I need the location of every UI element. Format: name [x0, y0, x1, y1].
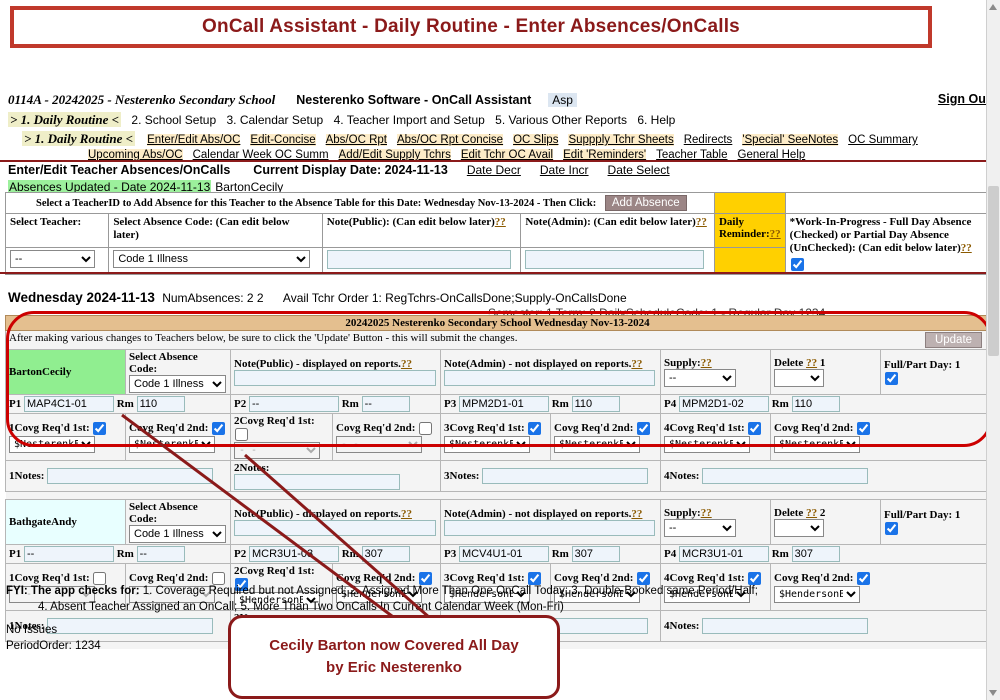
room-label-p4: Rm	[772, 548, 789, 560]
asp-badge: Asp	[548, 93, 577, 107]
coverage-2nd-dropdown-p3[interactable]: $NesterenkEr	[554, 436, 640, 453]
grid-band-header-row: 20242025 Nesterenko Secondary School Wed…	[6, 316, 990, 331]
coverage-1st-label-p3: 3Covg Req'd 1st:	[444, 421, 547, 436]
teacher-separator-row	[6, 492, 990, 500]
software-name-label: Nesterenko Software - OnCall Assistant	[296, 93, 531, 107]
wip-cell: *Work-In-Progress - Full Day Absence (Ch…	[785, 214, 994, 275]
teacher-supply-dropdown[interactable]: --	[664, 369, 736, 387]
coverage-1st-dropdown-p3[interactable]: $NesterenkEr	[444, 436, 530, 453]
period-label-p3: P3	[444, 398, 456, 410]
room-input-p1[interactable]	[137, 396, 185, 412]
period-course-row: P1 Rm P2 Rm P3 Rm P4	[6, 395, 990, 414]
app-page: OnCall Assistant - Daily Routine - Enter…	[0, 0, 1000, 700]
note-public-label: Note(Public) - displayed on reports.??	[234, 358, 437, 370]
course-input-p3[interactable]	[459, 546, 549, 562]
coverage-2nd-checkbox-p3[interactable]	[637, 422, 650, 435]
room-label-p2: Rm	[342, 548, 359, 560]
date-incr-link[interactable]: Date Incr	[540, 163, 589, 177]
teacher-supply-dropdown[interactable]: --	[664, 519, 736, 537]
grid-band-header: 20242025 Nesterenko Secondary School Wed…	[6, 316, 990, 331]
room-label-p1: Rm	[117, 398, 134, 410]
teacher-note-admin-input[interactable]	[444, 520, 655, 536]
notes-cell-p1: 1Notes:	[6, 461, 231, 492]
sign-out-link[interactable]: Sign Out	[938, 92, 990, 106]
coverage-cell-p2-1st: 2Covg Req'd 1st: - -	[231, 414, 333, 461]
note-admin-cell	[521, 248, 715, 275]
room-input-p3[interactable]	[572, 546, 620, 562]
coverage-2nd-dropdown-p1[interactable]: $NesterenkEr	[129, 436, 215, 453]
note-public-help-icon[interactable]: ??	[401, 358, 412, 370]
notes-input-p2[interactable]	[234, 474, 400, 490]
notes-input-p4[interactable]	[702, 618, 868, 634]
notes-input-p4[interactable]	[702, 468, 868, 484]
vertical-scrollbar[interactable]	[986, 0, 1000, 700]
course-input-p2[interactable]	[249, 546, 339, 562]
sub-menu-item-special-seenotes[interactable]: 'Special' SeeNotes	[742, 134, 838, 146]
notes-label-p4: 4Notes:	[664, 470, 699, 482]
note-public-help-icon[interactable]: ??	[401, 508, 412, 520]
note-admin-help-icon[interactable]: ??	[696, 216, 707, 228]
coverage-cell-p1-1st: 1Covg Req'd 1st: $NesterenkEr	[6, 414, 126, 461]
wip-help-icon[interactable]: ??	[961, 242, 972, 254]
period-label-p1: P1	[9, 548, 21, 560]
day-label: Wednesday 2024-11-13	[8, 290, 155, 305]
notes-label-p1: 1Notes:	[9, 470, 44, 482]
daily-reminder-value-cell	[714, 248, 785, 275]
wip-label: *Work-In-Progress - Full Day Absence (Ch…	[790, 216, 972, 254]
daily-reminder-help-icon[interactable]: ??	[770, 228, 781, 240]
period-label-p2: P2	[234, 398, 246, 410]
course-input-p2[interactable]	[249, 396, 339, 412]
grid-update-row: Update After making various changes to T…	[6, 331, 990, 350]
room-input-p2[interactable]	[362, 396, 410, 412]
course-input-p3[interactable]	[459, 396, 549, 412]
notes-label-p4: 4Notes:	[664, 620, 699, 632]
school-id-label: 0114A - 20242025 - Nesterenko Secondary …	[8, 92, 275, 107]
coverage-2nd-checkbox-p1[interactable]	[212, 422, 225, 435]
sub-menu-item-abs-oc-rpt[interactable]: Abs/OC Rpt	[326, 134, 387, 146]
delete-help-icon[interactable]: ??	[806, 357, 817, 369]
select-absence-label-cell: Select Absence Code: (Can edit below lat…	[109, 214, 322, 248]
select-teacher-cell: --	[6, 248, 109, 275]
room-input-p3[interactable]	[572, 396, 620, 412]
page-heading: Enter/Edit Teacher Absences/OnCalls	[8, 163, 230, 177]
divider-top	[0, 160, 1000, 162]
page-title: OnCall Assistant - Daily Routine - Enter…	[202, 16, 740, 38]
daily-reminder-header-cell	[714, 193, 785, 214]
main-menu-item-school-setup[interactable]: 2. School Setup	[131, 113, 216, 127]
delete-label: Delete ?? 2	[774, 507, 877, 519]
room-label-p4: Rm	[772, 398, 789, 410]
note-public-label-cell: Note(Public): (Can edit below later)??	[322, 214, 521, 248]
sub-menu-item-abs-oc-rpt-concise[interactable]: Abs/OC Rpt Concise	[397, 134, 503, 146]
period-cell-p2: P2 Rm	[231, 545, 441, 564]
avail-teacher-order-label: Avail Tchr Order 1: RegTchrs-OnCallsDone…	[283, 291, 627, 305]
teacher-fullpart-cell: Full/Part Day: 1	[881, 350, 990, 395]
main-menu-item-help[interactable]: 6. Help	[637, 113, 675, 127]
add-absence-instruction-row: Select a TeacherID to Add Absence for th…	[6, 193, 995, 214]
teacher-absence-code-cell: Select Absence Code: Code 1 Illness	[126, 500, 231, 545]
coverage-2nd-label-p1: Covg Req'd 2nd:	[129, 421, 227, 436]
sub-menu-item-edit-concise[interactable]: Edit-Concise	[250, 134, 315, 146]
period-label-p4: P4	[664, 398, 676, 410]
teacher-note-public-input[interactable]	[234, 520, 436, 536]
room-input-p4[interactable]	[792, 396, 840, 412]
supply-help-icon[interactable]: ??	[701, 507, 712, 519]
coverage-cell-p3-1st: 3Covg Req'd 1st: $NesterenkEr	[441, 414, 551, 461]
sub-menu-current-label: > 1. Daily Routine <	[22, 131, 135, 146]
teacher-row-number: 1	[820, 357, 826, 369]
teacher-fullpart-checkbox[interactable]	[885, 522, 898, 535]
notes-input-p3[interactable]	[482, 468, 648, 484]
coverage-2nd-label-p4: Covg Req'd 2nd:	[774, 421, 986, 436]
period-course-row: P1 Rm P2 Rm P3 Rm P4	[6, 545, 990, 564]
teacher-absence-code-dropdown[interactable]: Code 1 Illness	[129, 375, 226, 393]
teacher-delete-cell: Delete ?? 2	[771, 500, 881, 545]
scroll-up-arrow-icon[interactable]	[989, 4, 997, 10]
grid-update-cell: Update After making various changes to T…	[6, 331, 990, 350]
period-cell-p2: P2 Rm	[231, 395, 441, 414]
add-absence-labels-row: Select Teacher: Select Absence Code: (Ca…	[6, 214, 995, 248]
page-heading-row: Enter/Edit Teacher Absences/OnCalls Curr…	[8, 163, 670, 178]
note-admin-help-icon[interactable]: ??	[631, 358, 642, 370]
coverage-1st-label-p4: 4Covg Req'd 1st:	[664, 421, 767, 436]
delete-help-icon[interactable]: ??	[806, 507, 817, 519]
room-input-p1[interactable]	[137, 546, 185, 562]
main-menu-item-daily-routine[interactable]: > 1. Daily Routine <	[8, 112, 121, 127]
update-button[interactable]: Update	[925, 332, 982, 348]
course-input-p1[interactable]	[24, 546, 114, 562]
coverage-2nd-label-p3: Covg Req'd 2nd:	[554, 421, 657, 436]
supply-label: Supply:??	[664, 507, 767, 519]
note-public-label: Note(Public): (Can edit below later)	[327, 216, 495, 228]
notes-cell-p3: 3Notes:	[441, 461, 661, 492]
coverage-2nd-label-p2: Covg Req'd 2nd:	[336, 421, 437, 436]
num-absences-label: NumAbsences: 2 2	[162, 291, 263, 305]
select-teacher-label: Select Teacher:	[10, 216, 81, 228]
delete-label: Delete ?? 1	[774, 357, 877, 369]
divider-mid	[0, 272, 1000, 274]
wip-header-cell	[785, 193, 994, 214]
fyi-block: FYI: The app checks for: 1. Coverage Req…	[6, 583, 906, 615]
sub-menu-item-supply-tchr-sheets[interactable]: Suppply Tchr Sheets	[568, 134, 673, 146]
supply-label: Supply:??	[664, 357, 767, 369]
add-absence-instruction: Select a TeacherID to Add Absence for th…	[36, 198, 596, 209]
sub-menu-item-enter-edit-abs-oc[interactable]: Enter/Edit Abs/OC	[147, 134, 240, 146]
coverage-row: 1Covg Req'd 1st: $NesterenkEr Covg Req'd…	[6, 414, 990, 461]
teacher-fullpart-checkbox[interactable]	[885, 372, 898, 385]
page-title-banner: OnCall Assistant - Daily Routine - Enter…	[10, 6, 932, 48]
note-admin-label: Note(Admin) - not displayed on reports.?…	[444, 358, 657, 370]
add-absence-instruction-cell: Select a TeacherID to Add Absence for th…	[6, 193, 715, 214]
teacher-row-number: 2	[820, 507, 826, 519]
room-label-p1: Rm	[117, 548, 134, 560]
period-cell-p3: P3 Rm	[441, 545, 661, 564]
annotation-callout: Cecily Barton now Covered All Day by Eri…	[228, 615, 560, 699]
annotation-line-2: by Eric Nesterenko	[326, 657, 462, 679]
course-input-p4[interactable]	[679, 546, 769, 562]
issues-block: No Issues PeriodOrder: 1234	[6, 622, 101, 654]
teacher-header-row: BartonCecily Select Absence Code: Code 1…	[6, 350, 990, 395]
notes-cell-p4: 4Notes:	[661, 461, 990, 492]
period-cell-p3: P3 Rm	[441, 395, 661, 414]
course-input-p1[interactable]	[24, 396, 114, 412]
annotation-line-1: Cecily Barton now Covered All Day	[269, 635, 519, 657]
fullpart-label: Full/Part Day: 1	[884, 359, 986, 371]
period-cell-p1: P1 Rm	[6, 545, 231, 564]
period-label-p2: P2	[234, 548, 246, 560]
coverage-cell-p4-2nd: Covg Req'd 2nd: $NesterenkEr	[771, 414, 990, 461]
room-label-p3: Rm	[552, 398, 569, 410]
teacher-delete-dropdown[interactable]	[774, 369, 824, 387]
teacher-supply-cell: Supply:?? --	[661, 350, 771, 395]
coverage-cell-p1-2nd: Covg Req'd 2nd: $NesterenkEr	[126, 414, 231, 461]
coverage-2nd-dropdown-p4[interactable]: $NesterenkEr	[774, 436, 860, 453]
add-absence-panel: Select a TeacherID to Add Absence for th…	[5, 192, 995, 275]
notes-row: 1Notes: 2Notes: 3Notes: 4Notes:	[6, 461, 990, 492]
coverage-1st-dropdown-p1[interactable]: $NesterenkEr	[9, 436, 95, 453]
room-input-p2[interactable]	[362, 546, 410, 562]
period-label-p3: P3	[444, 548, 456, 560]
no-issues-label: No Issues	[6, 622, 101, 638]
sub-menu-row-1: > 1. Daily Routine < Enter/Edit Abs/OC E…	[22, 131, 1000, 146]
coverage-2nd-checkbox-p2[interactable]	[419, 422, 432, 435]
scroll-down-arrow-icon[interactable]	[989, 690, 997, 696]
select-absence-cell: Code 1 Illness	[109, 248, 322, 275]
coverage-2nd-checkbox-p4[interactable]	[857, 422, 870, 435]
supply-help-icon[interactable]: ??	[701, 357, 712, 369]
coverage-1st-checkbox-p3[interactable]	[528, 422, 541, 435]
teacher-absence-code-cell: Select Absence Code: Code 1 Illness	[126, 350, 231, 395]
coverage-1st-label-p2: 2Covg Req'd 1st:	[234, 415, 329, 442]
period-cell-p4: P4 Rm	[661, 395, 990, 414]
period-cell-p4: P4 Rm	[661, 545, 990, 564]
teacher-note-public-cell: Note(Public) - displayed on reports.??	[231, 500, 441, 545]
teacher-note-admin-cell: Note(Admin) - not displayed on reports.?…	[441, 350, 661, 395]
period-label-p4: P4	[664, 548, 676, 560]
coverage-2nd-dropdown-p2[interactable]: - -	[336, 436, 422, 453]
sub-menu-item-oc-summary[interactable]: OC Summary	[848, 134, 918, 146]
note-admin-input[interactable]	[525, 250, 704, 269]
coverage-1st-dropdown-p4[interactable]: $NesterenkEr	[664, 436, 750, 453]
teacher-separator	[6, 492, 990, 500]
coverage-1st-checkbox-p2[interactable]	[235, 428, 248, 441]
note-admin-help-icon[interactable]: ??	[631, 508, 642, 520]
fyi-line-1-text: 1. Coverage Required but not Assigned; 2…	[140, 585, 758, 597]
notes-label-p2: 2Notes:	[234, 462, 269, 474]
coverage-1st-dropdown-p2[interactable]: - -	[234, 442, 320, 459]
fyi-line-1: FYI: The app checks for: 1. Coverage Req…	[6, 583, 906, 599]
coverage-1st-label-p1: 1Covg Req'd 1st:	[9, 421, 122, 436]
date-decr-link[interactable]: Date Decr	[467, 163, 521, 177]
wip-fullday-checkbox[interactable]	[791, 258, 804, 271]
select-absence-code-dropdown[interactable]: Code 1 Illness	[113, 250, 310, 268]
period-order-label: PeriodOrder: 1234	[6, 638, 101, 654]
daily-reminder-label: Daily Reminder:	[719, 216, 770, 240]
note-public-label: Note(Public) - displayed on reports.??	[234, 508, 437, 520]
teacher-note-admin-input[interactable]	[444, 370, 655, 386]
coverage-1st-checkbox-p4[interactable]	[748, 422, 761, 435]
absence-code-label: Select Absence Code:	[129, 501, 227, 525]
fullpart-label: Full/Part Day: 1	[884, 509, 986, 521]
teacher-fullpart-cell: Full/Part Day: 1	[881, 500, 990, 545]
day-info-row: Wednesday 2024-11-13 NumAbsences: 2 2 Av…	[8, 290, 627, 305]
period-cell-p1: P1 Rm	[6, 395, 231, 414]
date-select-link[interactable]: Date Select	[608, 163, 670, 177]
teacher-name-cell: BathgateAndy	[6, 500, 126, 545]
select-teacher-label-cell: Select Teacher:	[6, 214, 109, 248]
teacher-header-row: BathgateAndy Select Absence Code: Code 1…	[6, 500, 990, 545]
teacher-supply-cell: Supply:?? --	[661, 500, 771, 545]
course-input-p4[interactable]	[679, 396, 769, 412]
note-admin-label: Note(Admin): (Can edit below later)	[525, 216, 695, 228]
teacher-note-public-cell: Note(Public) - displayed on reports.??	[231, 350, 441, 395]
room-label-p3: Rm	[552, 548, 569, 560]
notes-label-p3: 3Notes:	[444, 470, 479, 482]
room-label-p2: Rm	[342, 398, 359, 410]
teacher-note-public-input[interactable]	[234, 370, 436, 386]
current-display-date: Current Display Date: 2024-11-13	[253, 163, 448, 177]
teacher-delete-cell: Delete ?? 1	[771, 350, 881, 395]
main-menu-item-calendar-setup[interactable]: 3. Calendar Setup	[227, 113, 324, 127]
teacher-name-cell: BartonCecily	[6, 350, 126, 395]
note-public-input[interactable]	[327, 250, 511, 269]
note-admin-label: Note(Admin) - not displayed on reports.?…	[444, 508, 657, 520]
absence-code-label: Select Absence Code:	[129, 351, 227, 375]
notes-input-p1[interactable]	[47, 468, 213, 484]
fyi-bold-label: FYI: The app checks for:	[6, 585, 140, 597]
main-menu-bar: > 1. Daily Routine < 2. School Setup 3. …	[8, 112, 992, 128]
app-header-line: 0114A - 20242025 - Nesterenko Secondary …	[8, 92, 992, 110]
coverage-cell-p3-2nd: Covg Req'd 2nd: $NesterenkEr	[551, 414, 661, 461]
select-absence-code-label: Select Absence Code: (Can edit below lat…	[113, 216, 289, 241]
coverage-cell-p4-1st: 4Covg Req'd 1st: $NesterenkEr	[661, 414, 771, 461]
notes-cell-p4: 4Notes:	[661, 611, 990, 642]
sub-menu-item-oc-slips[interactable]: OC Slips	[513, 134, 558, 146]
period-label-p1: P1	[9, 398, 21, 410]
sub-menu-item-redirects[interactable]: Redirects	[684, 134, 733, 146]
room-input-p4[interactable]	[792, 546, 840, 562]
main-menu-item-other-reports[interactable]: 5. Various Other Reports	[495, 113, 627, 127]
teacher-absence-code-dropdown[interactable]: Code 1 Illness	[129, 525, 226, 543]
notes-cell-p2: 2Notes:	[231, 461, 441, 492]
note-public-cell	[322, 248, 521, 275]
main-menu-item-teacher-import[interactable]: 4. Teacher Import and Setup	[334, 113, 485, 127]
teacher-note-admin-cell: Note(Admin) - not displayed on reports.?…	[441, 500, 661, 545]
daily-reminder-cell: Daily Reminder:??	[714, 214, 785, 248]
note-admin-label-cell: Note(Admin): (Can edit below later)??	[521, 214, 715, 248]
note-public-help-icon[interactable]: ??	[495, 216, 506, 228]
fyi-line-2: 4. Absent Teacher Assigned an OnCall; 5.…	[6, 599, 906, 615]
select-teacher-dropdown[interactable]: --	[10, 250, 95, 268]
teacher-delete-dropdown[interactable]	[774, 519, 824, 537]
add-absence-button[interactable]: Add Absence	[605, 195, 687, 211]
update-note: After making various changes to Teachers…	[9, 332, 517, 344]
scrollbar-thumb[interactable]	[988, 186, 999, 356]
coverage-1st-checkbox-p1[interactable]	[93, 422, 106, 435]
coverage-cell-p2-2nd: Covg Req'd 2nd: - -	[333, 414, 441, 461]
